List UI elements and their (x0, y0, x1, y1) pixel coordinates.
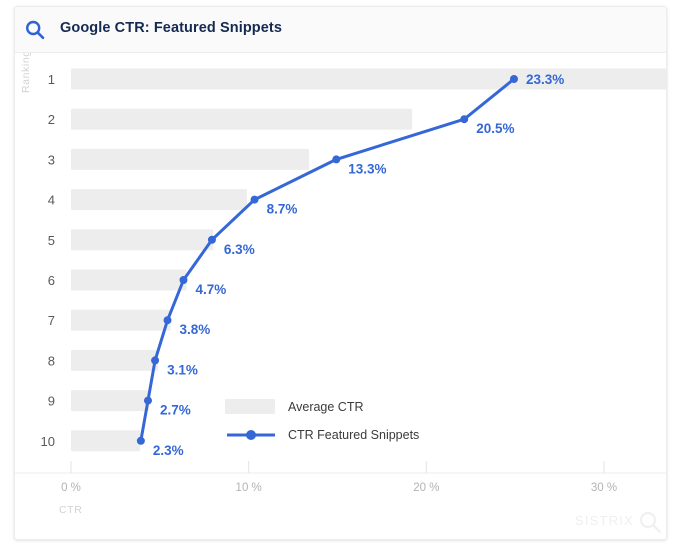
data-label-rank-4: 8.7% (267, 202, 298, 217)
page-title: Google CTR: Featured Snippets (60, 20, 282, 36)
y-tick-9: 9 (48, 394, 55, 409)
y-tick-4: 4 (48, 193, 55, 208)
bar-rank-3 (71, 149, 309, 170)
line-series (137, 75, 518, 445)
bar-rank-6 (71, 270, 186, 291)
bar-rank-5 (71, 229, 213, 250)
y-tick-5: 5 (48, 233, 55, 248)
legend-line-label: CTR Featured Snippets (288, 428, 419, 442)
data-point-rank-10[interactable] (137, 437, 145, 445)
data-label-rank-8: 3.1% (167, 362, 198, 377)
data-point-rank-7[interactable] (164, 316, 172, 324)
data-point-rank-2[interactable] (460, 115, 468, 123)
chart-card: Google CTR: Featured Snippets 1234567891… (14, 6, 667, 540)
data-point-rank-3[interactable] (332, 155, 340, 163)
bar-rank-8 (71, 350, 158, 371)
watermark: SISTRIX (575, 508, 665, 536)
bar-rank-7 (71, 310, 170, 331)
chart-plot-area: 12345678910Ranking 0 %10 %20 %30 %CTR 23… (15, 53, 666, 539)
legend-bar-label: Average CTR (288, 400, 364, 414)
data-label-rank-2: 20.5% (476, 121, 514, 136)
x-tick-label-2: 20 % (413, 482, 439, 494)
data-label-rank-10: 2.3% (153, 443, 184, 458)
x-axis-title: CTR (59, 504, 82, 516)
y-tick-10: 10 (41, 434, 55, 449)
y-tick-1: 1 (48, 72, 55, 87)
data-point-rank-5[interactable] (208, 236, 216, 244)
data-point-rank-4[interactable] (251, 196, 259, 204)
y-axis-labels: 12345678910Ranking (20, 53, 55, 449)
y-tick-7: 7 (48, 313, 55, 328)
legend-bar-swatch (225, 399, 275, 414)
y-tick-3: 3 (48, 152, 55, 167)
bar-rank-2 (71, 109, 412, 130)
legend-line-marker (246, 430, 256, 440)
x-axis: 0 %10 %20 %30 %CTR (15, 461, 666, 516)
bar-rank-9 (71, 390, 149, 411)
data-point-rank-6[interactable] (180, 276, 188, 284)
magnifier-handle-icon (653, 525, 660, 532)
data-label-rank-5: 6.3% (224, 242, 255, 257)
x-tick-label-1: 10 % (236, 482, 262, 494)
data-label-rank-7: 3.8% (180, 322, 211, 337)
chart-legend: Average CTR CTR Featured Snippets (225, 391, 445, 449)
bar-rank-1 (71, 69, 666, 90)
data-label-rank-9: 2.7% (160, 403, 191, 418)
data-point-rank-1[interactable] (510, 75, 518, 83)
data-point-rank-9[interactable] (144, 397, 152, 405)
search-icon (24, 19, 46, 41)
ctr-line (141, 79, 514, 441)
data-point-rank-8[interactable] (151, 356, 159, 364)
data-label-rank-6: 4.7% (196, 282, 227, 297)
x-tick-label-3: 30 % (591, 482, 617, 494)
bar-rank-4 (71, 189, 247, 210)
y-tick-6: 6 (48, 273, 55, 288)
chart-svg: 12345678910Ranking 0 %10 %20 %30 %CTR 23… (15, 53, 666, 539)
y-tick-2: 2 (48, 112, 55, 127)
data-label-rank-3: 13.3% (348, 161, 386, 176)
data-label-rank-1: 23.3% (526, 72, 564, 87)
card-header: Google CTR: Featured Snippets (15, 7, 666, 53)
y-axis-title: Ranking (20, 53, 32, 93)
y-tick-8: 8 (48, 353, 55, 368)
x-tick-label-0: 0 % (61, 482, 81, 494)
watermark-text: SISTRIX (575, 513, 634, 528)
bar-rank-10 (71, 430, 140, 451)
